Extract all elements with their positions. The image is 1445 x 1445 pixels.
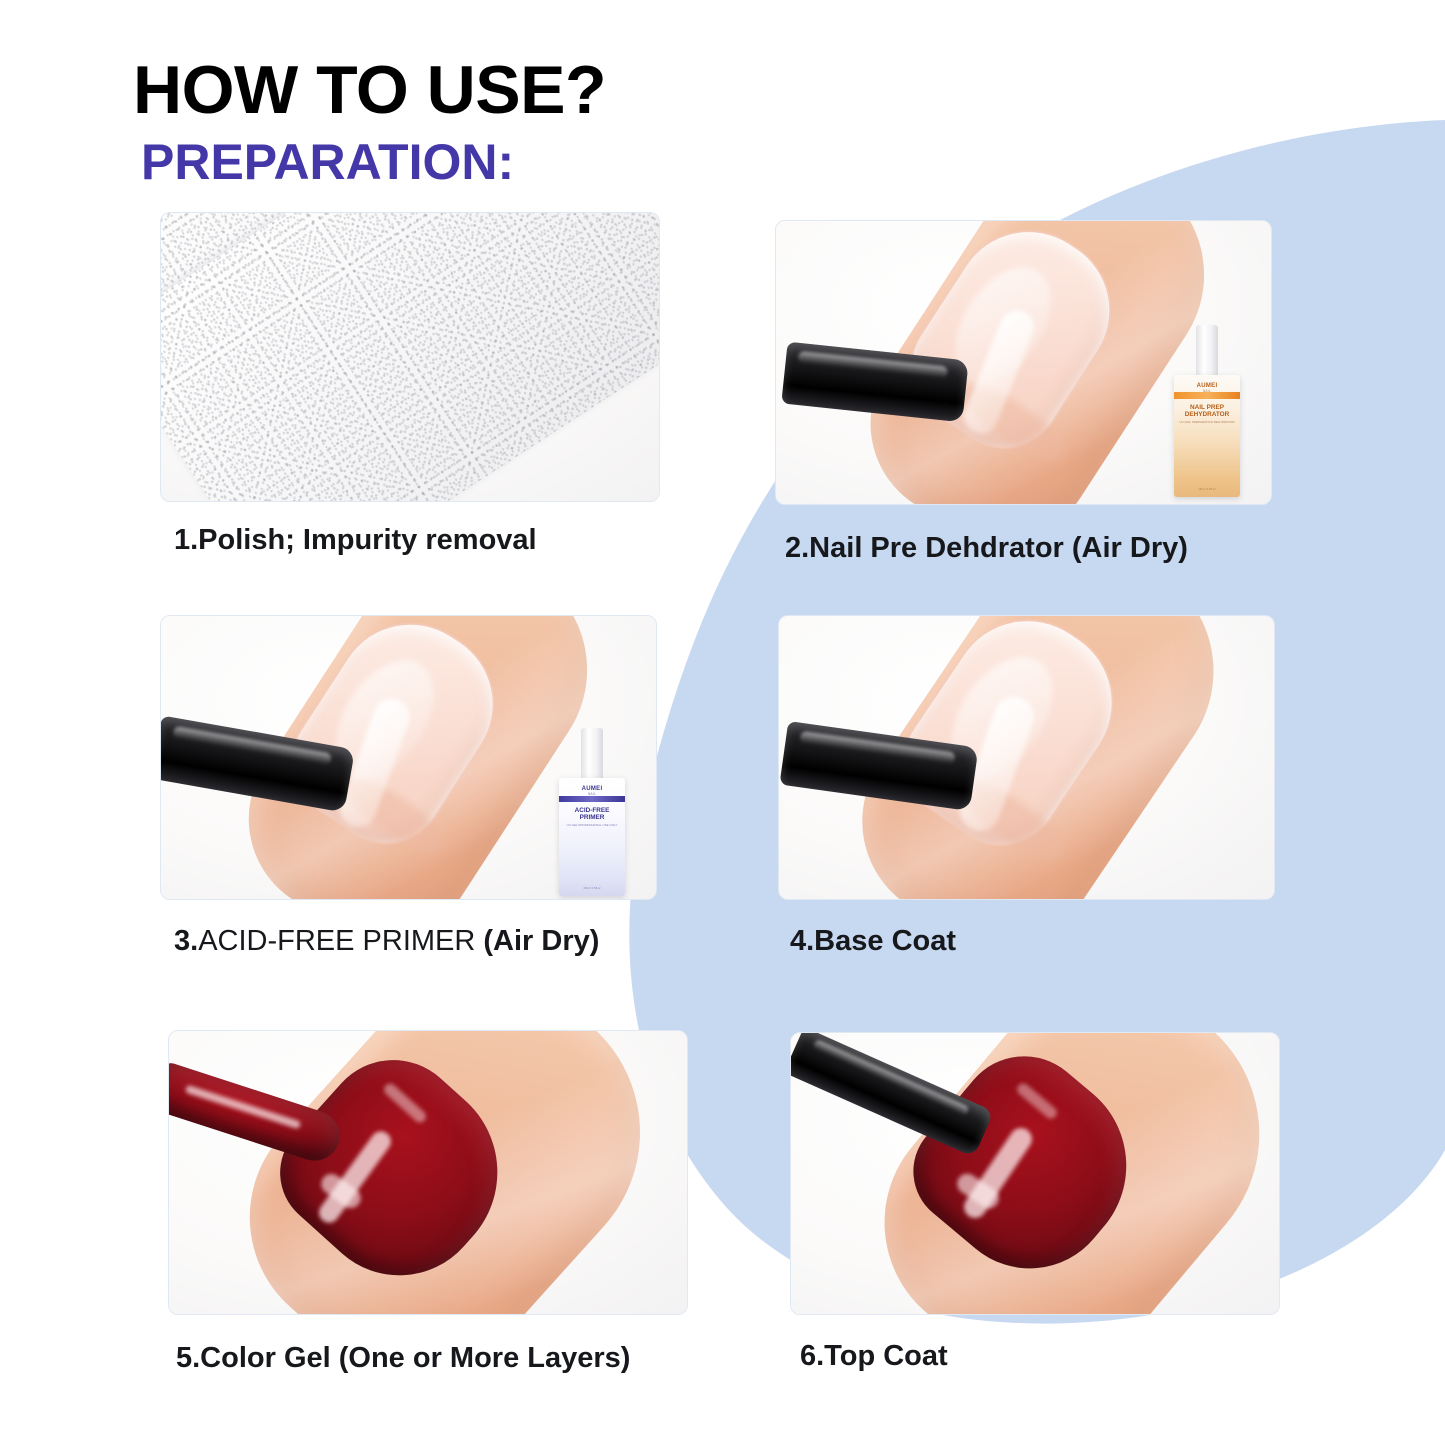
- bottle-name-line2: PRIMER: [580, 814, 605, 821]
- bottle-body: AUMEI NAIL NAIL PREP DEHYDRATOR UV NAIL …: [1174, 375, 1240, 497]
- bottle-brand-sub: NAIL: [588, 793, 596, 796]
- bottle-brand-sub: NAIL: [1203, 390, 1211, 393]
- step-item-5: 5.Color Gel (One or More Layers): [168, 1030, 688, 1420]
- product-bottle-primer: AUMEI NAIL ACID-FREE PRIMER UV GEL PROFE…: [559, 728, 625, 896]
- step-photo-2: AUMEI NAIL NAIL PREP DEHYDRATOR UV NAIL …: [775, 220, 1272, 505]
- bottle-name-line2: DEHYDRATOR: [1185, 411, 1230, 418]
- step-caption-4: 4.Base Coat: [790, 925, 956, 958]
- bottle-volume: 15ml / 0.5fl.oz: [559, 886, 625, 890]
- step-caption-3-note: (Air Dry): [483, 925, 599, 957]
- step-photo-1: [160, 212, 660, 502]
- bottle-volume: 15ml / 0.5fl.oz: [1174, 487, 1240, 491]
- step-caption-3-product: ACID-FREE PRIMER: [198, 925, 483, 957]
- step-item-2: AUMEI NAIL NAIL PREP DEHYDRATOR UV NAIL …: [775, 220, 1275, 600]
- how-to-use-infographic: HOW TO USE? PREPARATION: 1.Polish; Impur…: [0, 0, 1445, 1445]
- step-caption-2: 2.Nail Pre Dehdrator (Air Dry): [785, 532, 1188, 565]
- step-caption-3: 3.ACID-FREE PRIMER (Air Dry): [174, 925, 599, 958]
- bottle-tagline: UV NAIL PREPARATION DEHYDRATOR: [1179, 421, 1234, 424]
- steps-grid: 1.Polish; Impurity removal: [0, 0, 1445, 1445]
- bottle-brand: AUMEI: [1197, 383, 1218, 389]
- bottle-cap: [1196, 325, 1218, 381]
- header-block: HOW TO USE? PREPARATION:: [133, 56, 606, 189]
- step-photo-5: [168, 1030, 688, 1315]
- bottle-brand: AUMEI: [582, 786, 603, 792]
- step-item-4: 4.Base Coat: [778, 615, 1278, 995]
- step-photo-6: [790, 1032, 1280, 1315]
- step-photo-4: [778, 615, 1275, 900]
- step-photo-3: AUMEI NAIL ACID-FREE PRIMER UV GEL PROFE…: [160, 615, 657, 900]
- step-caption-6: 6.Top Coat: [800, 1340, 948, 1373]
- bottle-body: AUMEI NAIL ACID-FREE PRIMER UV GEL PROFE…: [559, 778, 625, 896]
- step-caption-5: 5.Color Gel (One or More Layers): [176, 1342, 630, 1375]
- bottle-cap: [581, 728, 603, 782]
- page-title: HOW TO USE?: [133, 56, 606, 124]
- page-subtitle: PREPARATION:: [141, 136, 606, 189]
- step-caption-3-number: 3.: [174, 925, 198, 957]
- step-item-6: 6.Top Coat: [790, 1032, 1280, 1422]
- step-caption-1: 1.Polish; Impurity removal: [174, 524, 537, 557]
- step-item-3: AUMEI NAIL ACID-FREE PRIMER UV GEL PROFE…: [160, 615, 660, 995]
- bottle-tagline: UV GEL PROFESSIONAL USE ONLY: [567, 824, 618, 827]
- step-item-1: 1.Polish; Impurity removal: [160, 212, 660, 592]
- product-bottle-dehydrator: AUMEI NAIL NAIL PREP DEHYDRATOR UV NAIL …: [1174, 325, 1240, 497]
